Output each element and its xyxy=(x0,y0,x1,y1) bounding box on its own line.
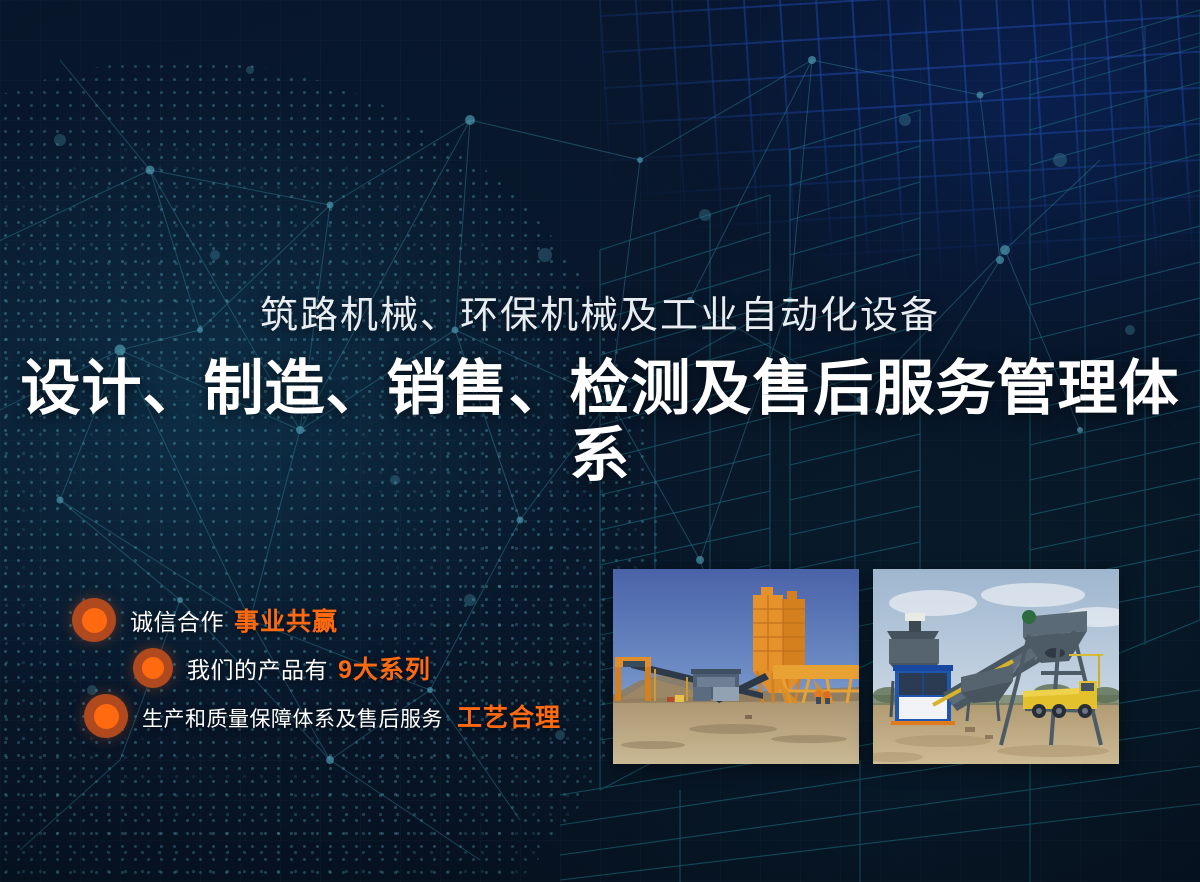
orange-dot-icon xyxy=(84,694,128,738)
banner-headline: 设计、制造、销售、检测及售后服务管理体系 xyxy=(0,355,1200,489)
feature-label: 生产和质量保障体系及售后服务 xyxy=(142,708,443,731)
list-item: 我们的产品有9大系列 xyxy=(0,644,580,692)
orange-dot-icon xyxy=(133,648,173,688)
list-item: 生产和质量保障体系及售后服务工艺合理 xyxy=(0,692,580,740)
photo-gallery xyxy=(613,569,1121,764)
mobile-mixing-plant-photo[interactable] xyxy=(873,569,1119,764)
feature-text: 我们的产品有9大系列 xyxy=(187,650,431,686)
feature-label: 我们的产品有 xyxy=(187,657,328,683)
orange-dot-icon xyxy=(72,598,116,642)
feature-text: 诚信合作事业共赢 xyxy=(130,602,338,638)
feature-text: 生产和质量保障体系及售后服务工艺合理 xyxy=(142,698,561,734)
banner-subtitle: 筑路机械、环保机械及工业自动化设备 xyxy=(0,295,1200,339)
list-item: 诚信合作事业共赢 xyxy=(0,596,580,644)
headline-block: 筑路机械、环保机械及工业自动化设备 设计、制造、销售、检测及售后服务管理体系 xyxy=(0,295,1200,489)
promo-banner: 筑路机械、环保机械及工业自动化设备 设计、制造、销售、检测及售后服务管理体系 诚… xyxy=(0,0,1200,882)
feature-highlight: 9大系列 xyxy=(338,656,431,684)
feature-label: 诚信合作 xyxy=(130,609,224,635)
feature-highlight: 事业共赢 xyxy=(234,608,338,636)
concrete-batching-plant-photo[interactable] xyxy=(613,569,859,764)
feature-list: 诚信合作事业共赢 我们的产品有9大系列 生产和质量保障体系及售后服务工艺合理 xyxy=(0,596,580,740)
feature-highlight: 工艺合理 xyxy=(457,704,561,732)
